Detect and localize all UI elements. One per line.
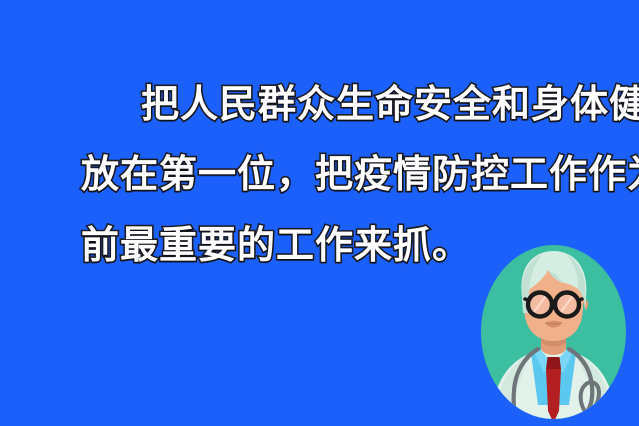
stethoscope-chestpiece-inner (509, 415, 519, 425)
doctor-avatar (481, 245, 626, 420)
slogan-line-3: 前最重要的工作来抓。 (81, 226, 471, 264)
doctor-tie-knot (546, 357, 561, 369)
slogan-card: 把人民群众生命安全和身体健康 放在第一位，把疫情防控工作作为当 前最重要的工作来… (0, 0, 639, 426)
slogan-line-1: 把人民群众生命安全和身体健康 (141, 85, 639, 123)
stethoscope-chestpiece (505, 411, 524, 426)
slogan-line-2: 放在第一位，把疫情防控工作作为当 (81, 155, 639, 193)
